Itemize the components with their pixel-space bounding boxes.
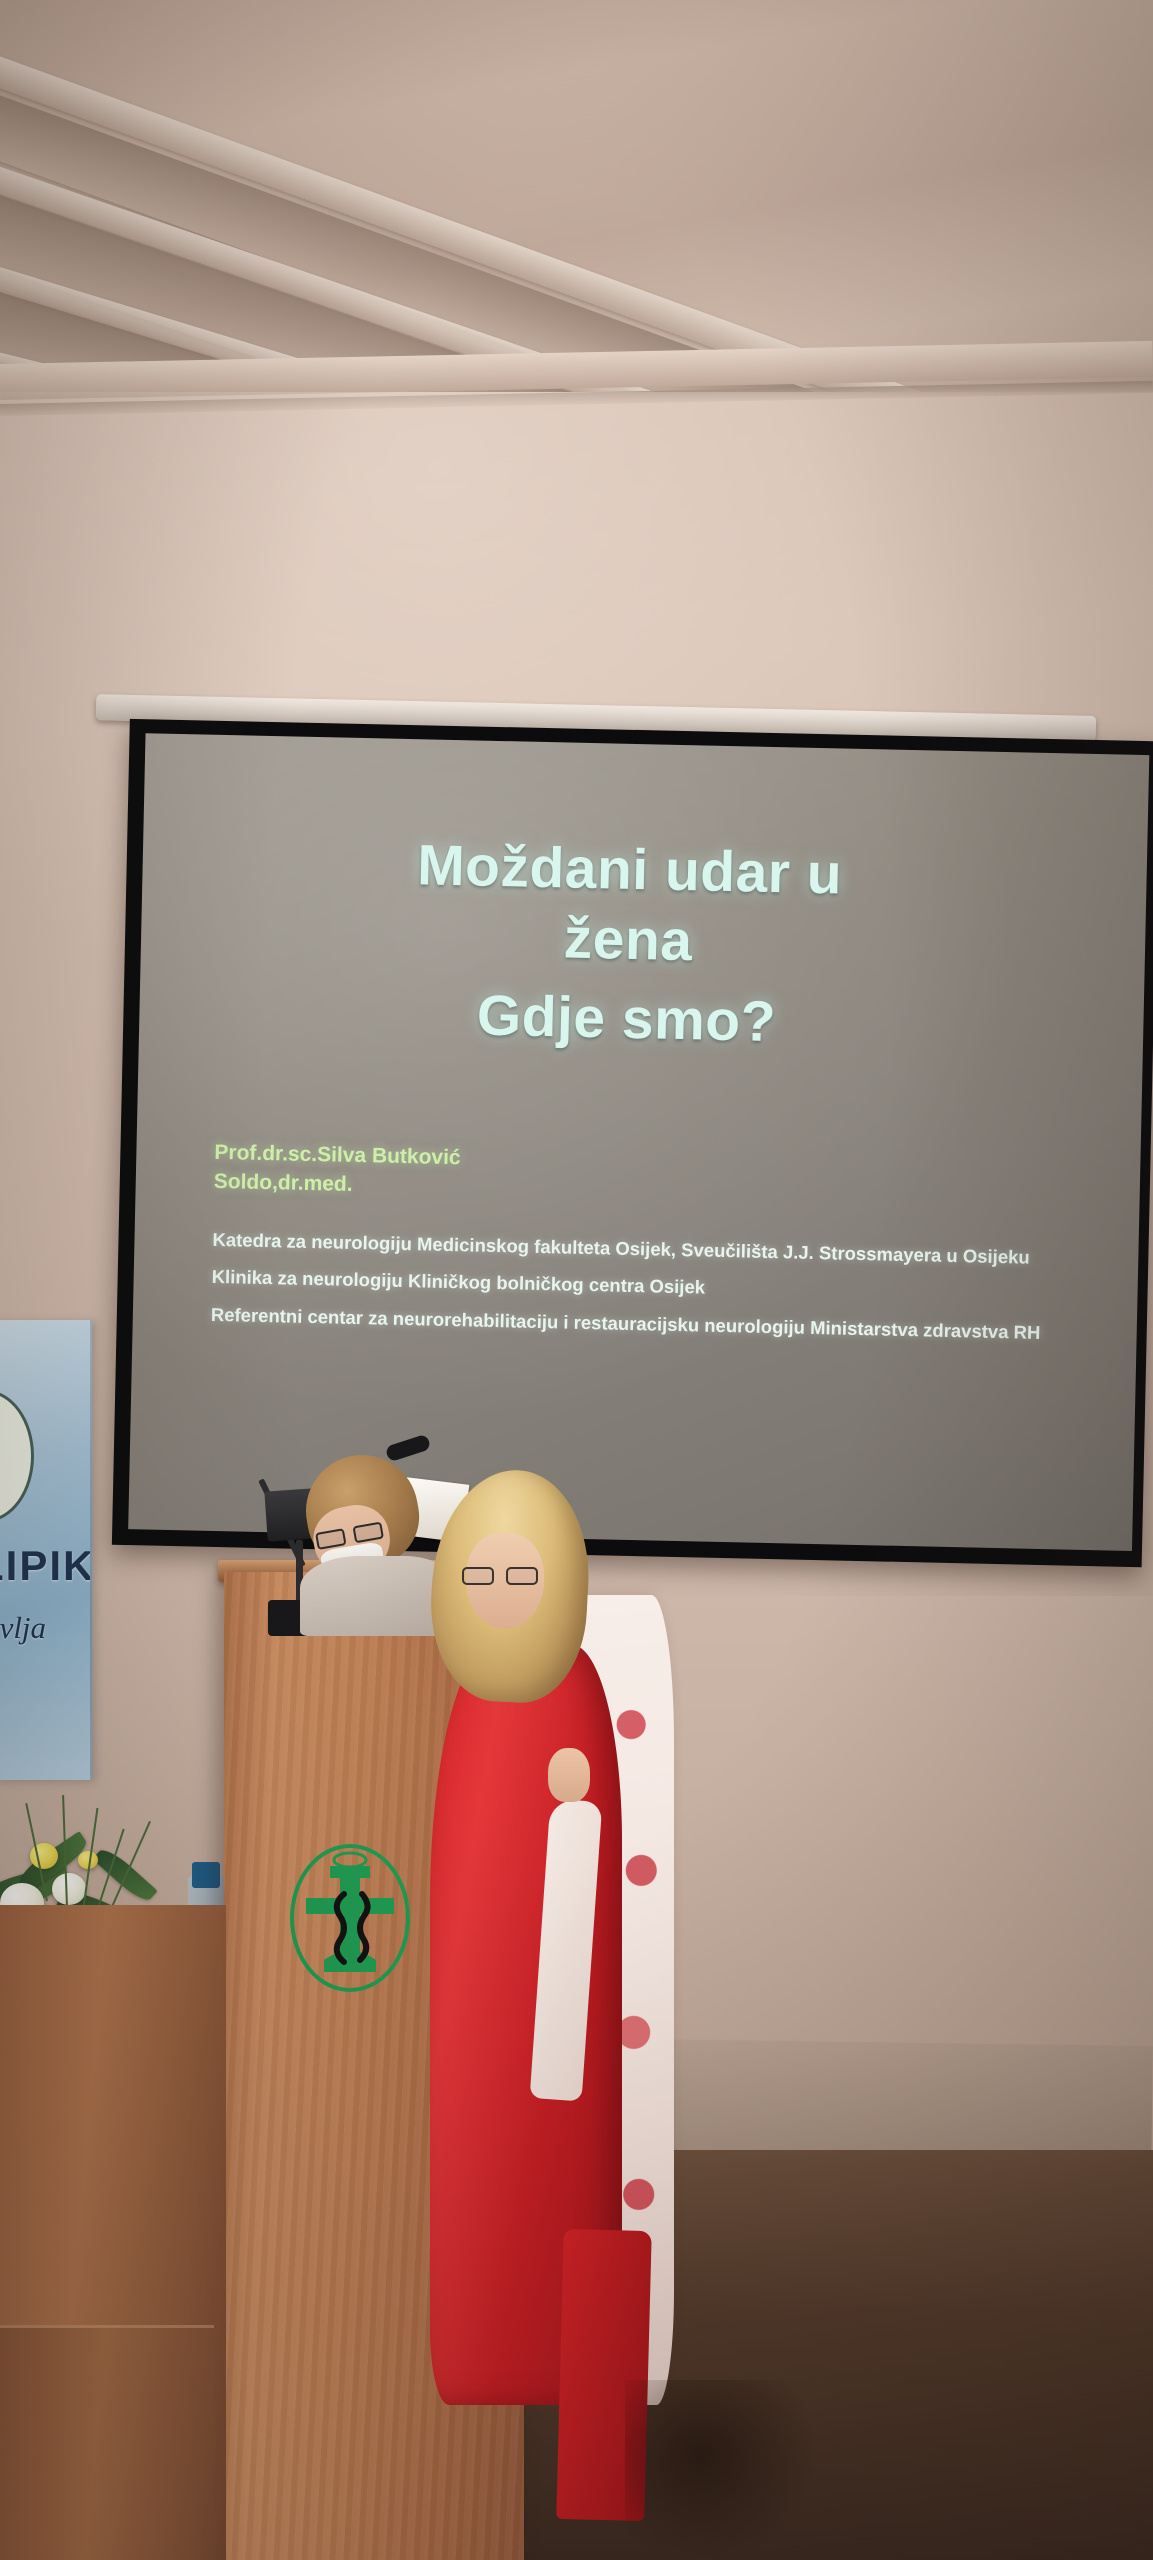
slide-author-block: Prof.dr.sc.Silva Butković Soldo,dr.med.: [213, 1137, 1080, 1216]
slide-affiliation-2: Klinika za neurologiju Kliničkog bolničk…: [211, 1264, 1077, 1309]
floor-shadow: [625, 2380, 815, 2560]
projection-screen-assembly: Moždani udar u žena Gdje smo? Prof.dr.sc…: [69, 712, 1153, 1615]
screen-frame: Moždani udar u žena Gdje smo? Prof.dr.sc…: [112, 719, 1153, 1567]
presentation-slide: Moždani udar u žena Gdje smo? Prof.dr.sc…: [128, 733, 1149, 1551]
banner-title: LIPIK: [0, 1542, 92, 1590]
slide-affiliation-1: Katedra za neurologiju Medicinskog fakul…: [212, 1227, 1078, 1272]
banner-seal-icon: [0, 1390, 34, 1522]
conference-hall-photo: Moždani udar u žena Gdje smo? Prof.dr.sc…: [0, 0, 1153, 2560]
banner-subtitle: ravlja: [0, 1610, 92, 1646]
rollup-banner: LIPIK ravlja: [0, 1320, 92, 1780]
slide-affiliation-3: Referentni centar za neurorehabilitaciju…: [211, 1302, 1077, 1347]
slide-affiliation-block: Katedra za neurologiju Medicinskog fakul…: [211, 1227, 1079, 1347]
speaker-standing-glasses-icon: [462, 1567, 540, 1585]
slide-title: Moždani udar u žena Gdje smo?: [169, 826, 1088, 1064]
water-bottle-cap[interactable]: [192, 1862, 220, 1888]
green-medical-fountain-emblem: [288, 1842, 412, 1994]
speaker-seated-torso: [300, 1556, 450, 1636]
speaker-standing-hand: [548, 1748, 590, 1802]
projection-screen-surface: Moždani udar u žena Gdje smo? Prof.dr.sc…: [128, 733, 1149, 1551]
podium-lower-step: [0, 2325, 214, 2560]
slide-title-line-3: Gdje smo?: [169, 975, 1084, 1064]
